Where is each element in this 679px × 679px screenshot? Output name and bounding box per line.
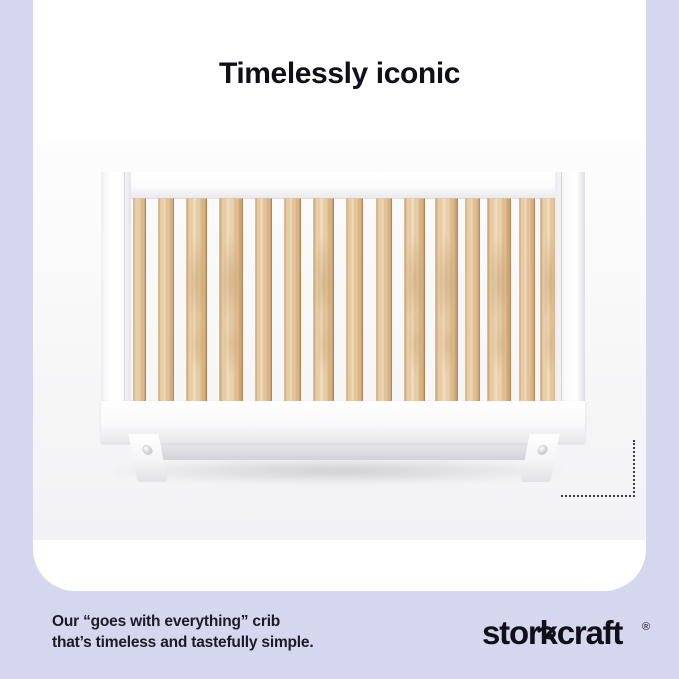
leg-screw-icon [143,446,153,454]
product-card: Timelessly iconic [33,0,646,591]
top-rail-highlight [101,172,585,179]
slat [465,196,480,401]
slat [133,196,146,401]
screenshot-canvas: Timelessly iconic [0,0,679,679]
registered-mark: ® [642,621,650,633]
slat [540,196,555,401]
page-title: Timelessly iconic [33,57,646,91]
slat [255,196,272,401]
top-rail [101,172,585,198]
footer-copy-line-2: that’s timeless and tastefully simple. [52,632,313,653]
slat [487,196,511,401]
slat [519,196,535,401]
footer-band: Our “goes with everything” crib that’s t… [0,591,679,679]
footer-copy-line-1: Our “goes with everything” crib [52,611,313,632]
slat [404,196,425,401]
storkcraft-logo: storkcraft ® [482,614,662,654]
footer-copy: Our “goes with everything” crib that’s t… [52,611,313,653]
slat [376,196,392,401]
slat [346,196,363,401]
base-rail [161,444,529,460]
bottom-rail [101,401,585,443]
slat-field [131,196,555,401]
leg-screw-icon [538,446,548,454]
crib-product-image [33,140,646,540]
dotted-corner-bracket-annotation [561,440,635,497]
slat [313,196,334,401]
slat [186,196,207,401]
crib-assembly [101,172,585,482]
slat [158,196,174,401]
slat [435,196,458,401]
slat [284,196,301,401]
slat [219,196,243,401]
